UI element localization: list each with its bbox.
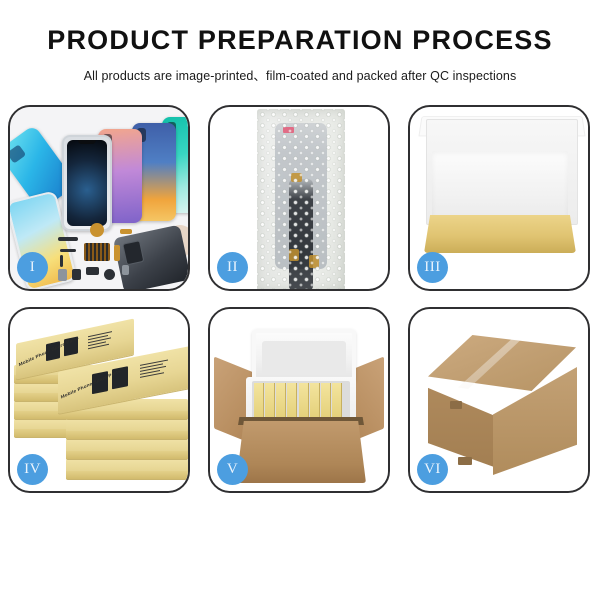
process-step-panel-3: III bbox=[408, 105, 590, 291]
process-step-panel-1: I bbox=[8, 105, 190, 291]
stacked-box bbox=[66, 439, 188, 459]
packed-box bbox=[254, 383, 263, 421]
process-step-panel-5: V bbox=[208, 307, 390, 493]
infographic-page: PRODUCT PREPARATION PROCESS All products… bbox=[0, 0, 600, 600]
packed-box bbox=[310, 383, 319, 421]
bubble-texture-offset bbox=[257, 109, 345, 289]
carton-handle-notch bbox=[450, 401, 462, 409]
process-step-panel-4: Mobile Phone Spare Parts Mobile P bbox=[8, 307, 190, 493]
packed-box bbox=[321, 383, 330, 421]
carton-handle-notch bbox=[458, 457, 472, 465]
process-step-panel-6: VI bbox=[408, 307, 590, 493]
packed-box bbox=[276, 383, 285, 421]
phone-tempered-glass-black bbox=[62, 135, 112, 231]
stacked-box bbox=[66, 459, 188, 479]
page-title: PRODUCT PREPARATION PROCESS bbox=[0, 26, 600, 56]
step-badge-3: III bbox=[417, 252, 448, 283]
stacked-box bbox=[66, 419, 188, 439]
kraft-tray-base bbox=[424, 215, 576, 253]
bubble-wrap-pack bbox=[257, 109, 345, 289]
process-steps-grid: I II bbox=[8, 105, 592, 493]
packed-box bbox=[265, 383, 274, 421]
step-badge-4: IV bbox=[17, 454, 48, 485]
step-badge-1: I bbox=[17, 252, 48, 283]
carton-front-wall bbox=[236, 421, 366, 483]
page-subtitle: All products are image-printed、film-coat… bbox=[0, 65, 600, 84]
packed-box bbox=[332, 383, 341, 421]
spare-parts-cluster bbox=[56, 219, 166, 283]
process-step-panel-2: II bbox=[208, 105, 390, 291]
styrofoam-lid bbox=[252, 329, 356, 383]
step-badge-2: II bbox=[217, 252, 248, 283]
carton-left-face bbox=[428, 375, 494, 467]
packed-box bbox=[299, 383, 308, 421]
packed-boxes-row bbox=[252, 381, 350, 423]
step-badge-6: VI bbox=[417, 454, 448, 485]
header: PRODUCT PREPARATION PROCESS All products… bbox=[0, 0, 600, 84]
packed-box bbox=[287, 383, 296, 421]
step-badge-5: V bbox=[217, 454, 248, 485]
